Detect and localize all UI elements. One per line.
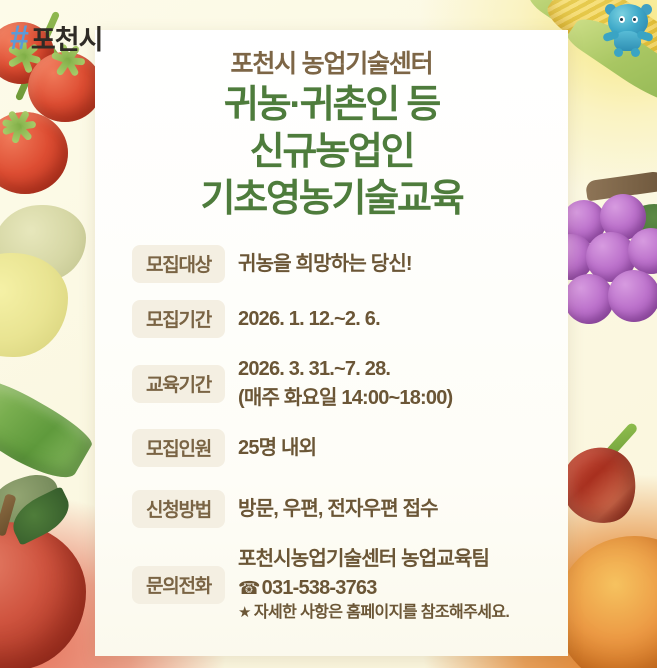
grape [600,194,646,240]
info-label: 교육기간 [132,365,225,403]
potato [0,205,86,281]
hashtag-icon: # [10,21,27,55]
tomato-calyx [16,122,17,123]
tomato [0,112,68,194]
info-label: 문의전화 [132,566,225,604]
potato-decor [0,205,110,405]
organization-name: 포천시 농업기술센터 [109,48,554,80]
info-table: 모집대상 귀농을 희망하는 당신! 모집기간 2026. 1. 12.~2. 6… [109,245,554,624]
grape [628,228,657,274]
heading-block: 포천시 농업기술센터 귀농·귀촌인 등 신규농업인 기초영농기술교육 [109,48,554,223]
mascot-character [600,2,656,56]
mascot-eye [632,16,638,23]
info-value-line: 방문, 우편, 전자우편 접수 [238,495,438,523]
apple-stem [0,493,17,536]
chili-pepper-decor [566,416,657,556]
potato [0,253,68,357]
mascot-eye [619,16,625,23]
cucumber-decor [0,392,106,532]
info-value: 포천시농업기술센터 농업교육팀 ☎031-538-3763 ★자세한 사항은 홈… [238,545,509,625]
info-value-line: 2026. 3. 31.~7. 28. [238,355,452,383]
info-value-line: (매주 화요일 14:00~18:00) [238,384,452,412]
cucumber [0,373,97,490]
info-row: 교육기간 2026. 3. 31.~7. 28. (매주 화요일 14:00~1… [132,355,554,412]
title-line-2: 신규농업인 [109,129,554,176]
info-row: 모집대상 귀농을 희망하는 당신! [132,245,554,283]
apple [0,522,86,668]
info-row: 신청방법 방문, 우편, 전자우편 접수 [132,490,554,528]
grape [608,270,657,322]
info-value-line: 포천시농업기술센터 농업교육팀 [238,545,509,573]
info-value-line: 2026. 1. 12.~2. 6. [238,305,380,333]
info-label: 모집기간 [132,300,225,338]
mascot-leg [614,48,623,57]
persimmon [556,536,657,668]
telephone-icon: ☎ [238,578,260,598]
logo-city-name: 포천시 [31,18,103,57]
grapes-decor [556,176,657,366]
info-label: 모집인원 [132,429,225,467]
title-line-3: 기초영농기술교육 [109,176,554,223]
poster-root: # 포천시 포천시 농업기술센터 귀농·귀촌인 등 신규농업인 기초영농기술교육… [0,0,657,668]
grape [564,274,614,324]
tomato [28,52,102,122]
info-value: 2026. 3. 31.~7. 28. (매주 화요일 14:00~18:00) [238,355,452,412]
info-value: 2026. 1. 12.~2. 6. [238,305,380,333]
content-card: 포천시 농업기술센터 귀농·귀촌인 등 신규농업인 기초영농기술교육 모집대상 … [95,30,568,656]
olive-leaf [0,468,65,533]
note-line: ★자세한 사항은 홈페이지를 참조해주세요. [238,602,509,625]
phone-line: ☎031-538-3763 [238,574,509,602]
city-logo: # 포천시 [10,18,102,57]
chili-stem [595,422,639,469]
info-value-line: 25명 내외 [238,434,316,462]
info-value-line: 귀농을 희망하는 당신! [238,250,412,278]
info-row: 모집기간 2026. 1. 12.~2. 6. [132,300,554,338]
title-line-1: 귀농·귀촌인 등 [109,82,554,129]
info-row: 문의전화 포천시농업기술센터 농업교육팀 ☎031-538-3763 ★자세한 … [132,545,554,625]
grape-leaf [625,196,657,249]
info-value: 방문, 우편, 전자우편 접수 [238,495,438,523]
phone-number: 031-538-3763 [262,577,377,599]
main-title: 귀농·귀촌인 등 신규농업인 기초영농기술교육 [109,82,554,223]
grape-stem [585,171,657,202]
info-row: 모집인원 25명 내외 [132,429,554,467]
mascot-leg [631,48,640,57]
info-value: 귀농을 희망하는 당신! [238,250,412,278]
info-label: 모집대상 [132,245,225,283]
note-text: 자세한 사항은 홈페이지를 참조해주세요. [254,604,509,621]
grape [562,200,606,244]
apple-leaf [5,486,77,546]
info-value: 25명 내외 [238,434,316,462]
star-icon: ★ [238,604,251,621]
info-label: 신청방법 [132,490,225,528]
grape [586,232,636,282]
grape-tendril [570,203,600,235]
